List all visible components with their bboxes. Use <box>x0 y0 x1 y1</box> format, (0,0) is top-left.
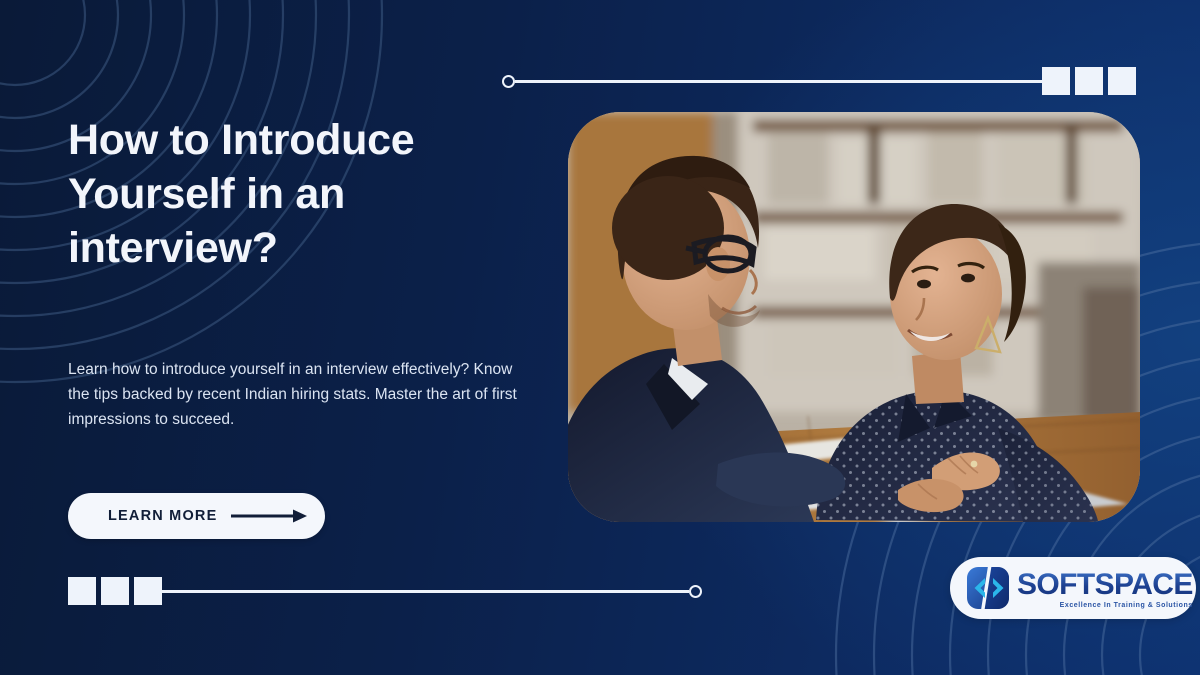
softspace-logo-badge[interactable]: SOFTSPACE Excellence In Training & Solut… <box>950 557 1196 619</box>
learn-more-label: LEARN MORE <box>108 508 217 524</box>
rail-line <box>515 80 1042 83</box>
arrow-right-icon <box>231 508 309 524</box>
page-title: How to Introduce Yourself in an intervie… <box>68 113 498 276</box>
rail-square-group <box>1042 67 1136 95</box>
bottom-decorative-rail <box>68 577 702 605</box>
rail-square <box>68 577 96 605</box>
rail-square-group <box>68 577 162 605</box>
circle-outline-icon <box>689 585 702 598</box>
softspace-chevron-logo-icon <box>966 565 1010 611</box>
top-decorative-rail <box>502 67 1136 95</box>
rail-square <box>1108 67 1136 95</box>
circle-outline-icon <box>502 75 515 88</box>
interview-photo-illustration <box>568 112 1140 522</box>
rail-square <box>101 577 129 605</box>
learn-more-button[interactable]: LEARN MORE <box>68 493 325 539</box>
rail-square <box>1075 67 1103 95</box>
logo-wordmark: SOFTSPACE <box>1017 570 1193 600</box>
logo-tagline: Excellence In Training & Solutions <box>1017 602 1193 609</box>
rail-square <box>134 577 162 605</box>
logo-text-group: SOFTSPACE Excellence In Training & Solut… <box>1017 570 1193 609</box>
description-text: Learn how to introduce yourself in an in… <box>68 357 518 432</box>
rail-line <box>162 590 689 593</box>
interview-photo <box>568 112 1140 522</box>
promo-banner: How to Introduce Yourself in an intervie… <box>0 0 1200 675</box>
rail-square <box>1042 67 1070 95</box>
